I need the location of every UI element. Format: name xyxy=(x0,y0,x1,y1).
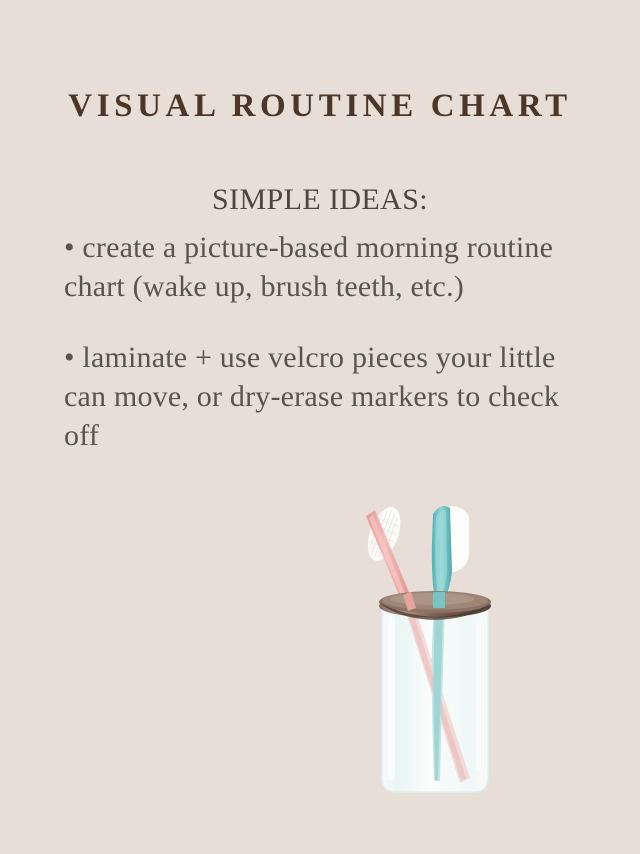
page-title: VISUAL ROUTINE CHART xyxy=(0,88,640,124)
teal-toothbrush xyxy=(432,506,469,602)
poster-canvas: VISUAL ROUTINE CHART SIMPLE IDEAS: • cre… xyxy=(0,0,640,854)
toothbrushes-in-cup-illustration xyxy=(330,496,540,816)
section-subtitle: SIMPLE IDEAS: xyxy=(0,183,640,218)
pink-toothbrush xyxy=(361,503,413,607)
ideas-list: • create a picture-based morning routine… xyxy=(64,228,576,455)
list-item: • create a picture-based morning routine… xyxy=(64,228,576,306)
cup-body xyxy=(382,602,488,792)
list-item: • laminate + use velcro pieces your litt… xyxy=(64,338,576,455)
